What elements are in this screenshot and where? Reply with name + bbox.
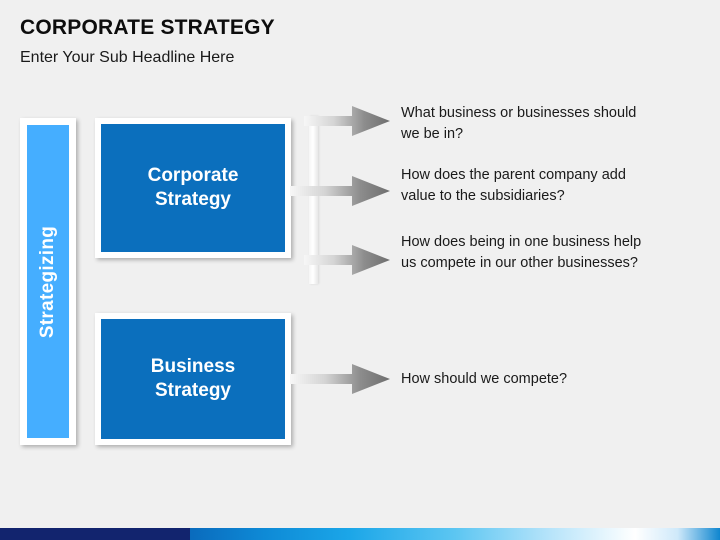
page-title: CORPORATE STRATEGY — [20, 16, 275, 40]
business-strategy-label: Business Strategy — [151, 355, 235, 404]
arrow-right-icon-q2 — [290, 174, 390, 208]
arrow-right-icon-q1 — [304, 104, 390, 138]
corporate-strategy-box[interactable]: Corporate Strategy — [95, 118, 291, 258]
slide-canvas: CORPORATE STRATEGY Enter Your Sub Headli… — [0, 0, 720, 540]
slide-header: CORPORATE STRATEGY Enter Your Sub Headli… — [0, 0, 720, 88]
footer-navy-bar — [0, 528, 190, 540]
question-text-1: What business or businesses should we be… — [401, 103, 701, 144]
question-text-4: How should we compete? — [401, 369, 701, 390]
question-text-3: How does being in one business help us c… — [401, 232, 701, 273]
footer-gradient-bar — [190, 528, 720, 540]
arrow-right-icon-q4 — [290, 362, 390, 396]
business-strategy-box-fill: Business Strategy — [101, 319, 285, 439]
strategizing-bar-label: Strategizing — [37, 225, 59, 337]
strategizing-bar-fill: Strategizing — [27, 125, 69, 438]
strategizing-bar[interactable]: Strategizing — [20, 118, 76, 445]
corporate-strategy-label: Corporate Strategy — [148, 164, 239, 213]
arrow-right-icon-q3 — [304, 243, 390, 277]
question-text-2: How does the parent company add value to… — [401, 165, 701, 206]
page-subtitle: Enter Your Sub Headline Here — [20, 49, 234, 67]
corporate-strategy-box-fill: Corporate Strategy — [101, 124, 285, 252]
business-strategy-box[interactable]: Business Strategy — [95, 313, 291, 445]
